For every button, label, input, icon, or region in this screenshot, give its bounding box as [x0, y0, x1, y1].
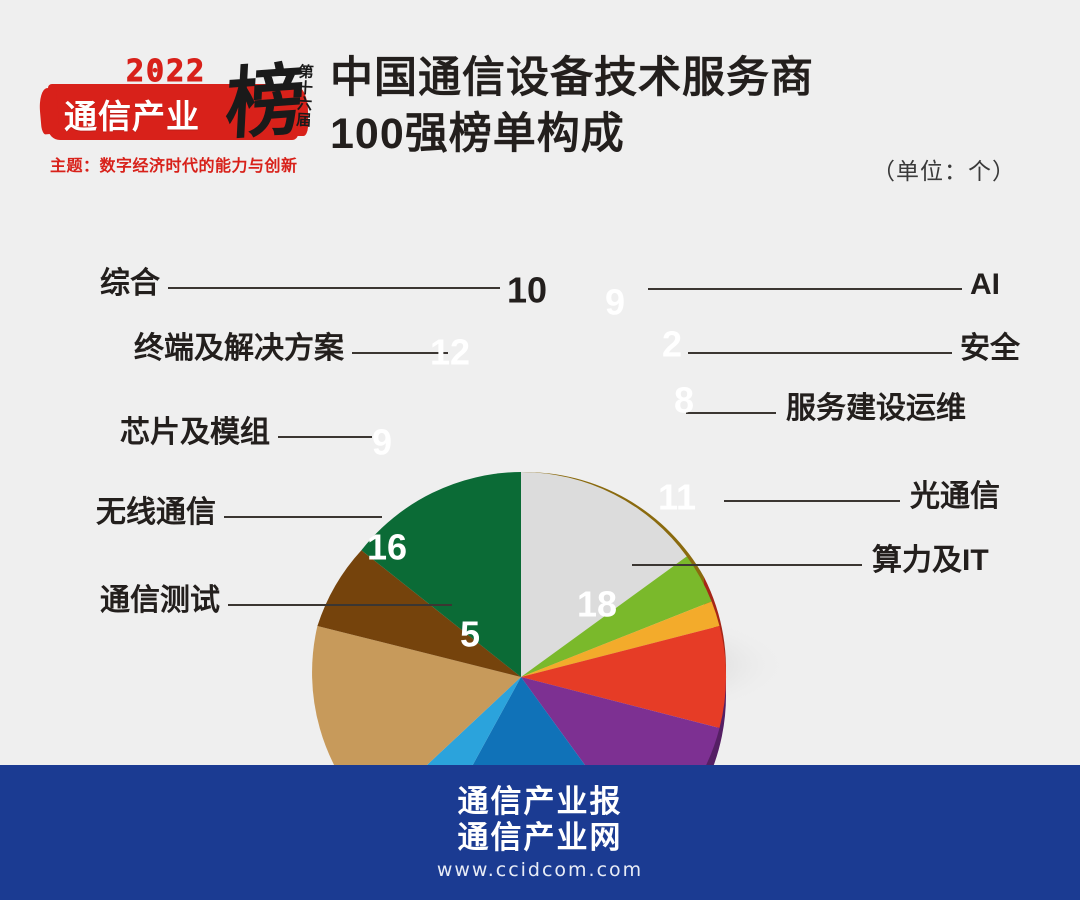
slice-value-zonghe: 10	[507, 270, 547, 311]
event-logo: 2022 通信产业 榜 第十六届 主题：数字经济时代的能力与创新	[42, 48, 312, 178]
logo-main-text: 通信产业	[64, 90, 200, 138]
unit-note: （单位：个）	[872, 152, 1016, 186]
footer-line2: 通信产业网	[458, 820, 623, 856]
logo-year: 2022	[126, 54, 206, 89]
label-fuwu[interactable]: 服务建设运维	[786, 392, 966, 426]
label-xinpian[interactable]: 芯片及模组	[10, 416, 270, 450]
footer-line1: 通信产业报	[458, 784, 623, 820]
footer-url[interactable]: www.ccidcom.com	[437, 859, 643, 881]
infographic-root: 2022 通信产业 榜 第十六届 主题：数字经济时代的能力与创新 中国通信设备技…	[0, 0, 1080, 900]
label-zonghe[interactable]: 综合	[10, 267, 160, 301]
logo-subtitle: 主题：数字经济时代的能力与创新	[50, 152, 298, 176]
pie-chart: 10 9 2 8 11 18 5 16 9 12 综合 终端及解决方案 芯片及模…	[0, 205, 1080, 765]
label-zhongduan[interactable]: 终端及解决方案	[10, 332, 344, 366]
header: 2022 通信产业 榜 第十六届 主题：数字经济时代的能力与创新 中国通信设备技…	[0, 0, 1080, 205]
page-title-line1: 中国通信设备技术服务商	[330, 50, 990, 106]
label-guangtongxin[interactable]: 光通信	[910, 480, 1000, 514]
slice-value-ai: 9	[605, 282, 625, 323]
label-wuxian[interactable]: 无线通信	[10, 496, 216, 530]
slice-value-guangtongxin: 11	[658, 477, 696, 518]
page-title: 中国通信设备技术服务商 100强榜单构成	[330, 50, 990, 162]
label-ai[interactable]: AI	[970, 268, 1000, 302]
slice-value-anquan: 2	[662, 324, 682, 365]
logo-bang-character: 榜	[224, 61, 307, 144]
slice-value-fuwu: 8	[674, 380, 694, 421]
footer-brand: 通信产业报 通信产业网 www.ccidcom.com	[0, 765, 1080, 900]
label-ceshi[interactable]: 通信测试	[10, 584, 220, 618]
slice-value-ceshi: 5	[460, 614, 480, 655]
slice-value-zhongduan: 12	[430, 332, 470, 373]
label-suanli[interactable]: 算力及IT	[872, 544, 989, 578]
slice-value-suanli: 18	[577, 584, 617, 625]
footer: 通信产业报 通信产业网 www.ccidcom.com	[0, 765, 1080, 900]
label-anquan[interactable]: 安全	[960, 332, 1020, 366]
slice-value-wuxian: 16	[367, 527, 407, 568]
slice-value-xinpian: 9	[372, 422, 392, 463]
